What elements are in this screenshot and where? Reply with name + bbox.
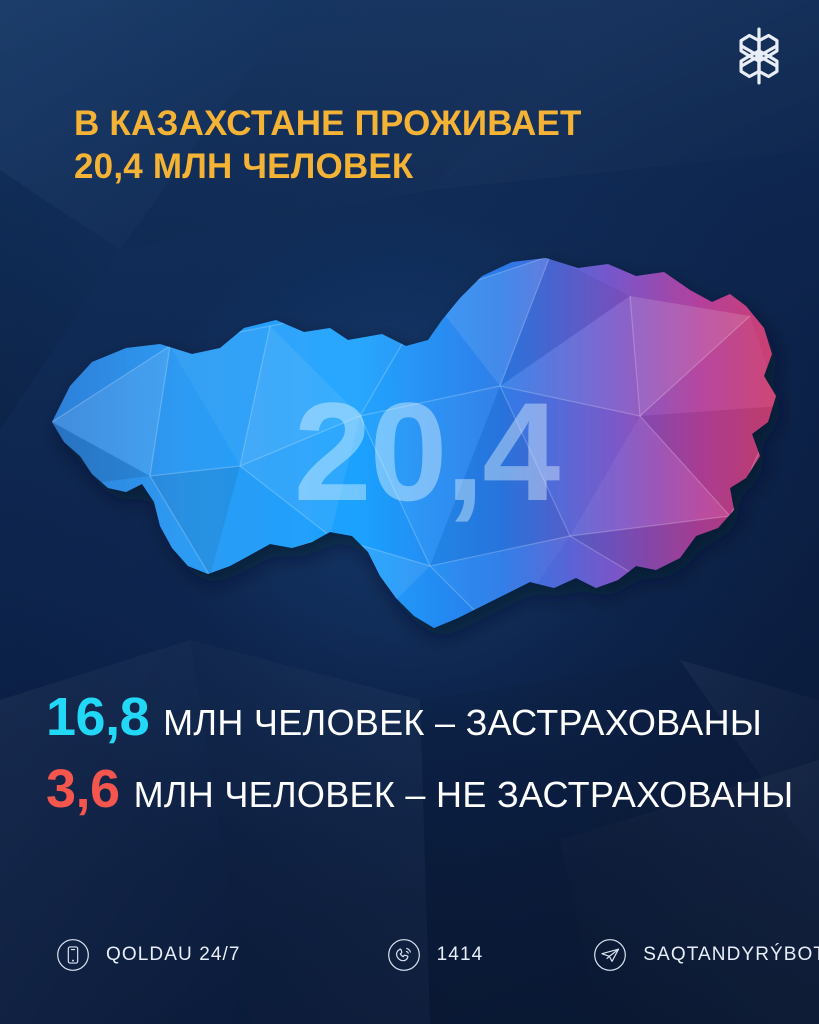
kazakhstan-map: 20,4	[30, 236, 790, 656]
footer-label-telegram: SAQTANDYRÝBOT	[643, 944, 819, 966]
stat-value-insured: 16,8	[46, 690, 149, 744]
smartphone-icon	[56, 938, 90, 972]
footer-item-qoldau[interactable]: QOLDAU 24/7	[56, 938, 241, 972]
footer-item-hotline[interactable]: 1414	[387, 938, 484, 972]
footer-label-hotline: 1414	[437, 944, 484, 966]
snowflake-hexagon-logo	[727, 24, 791, 88]
stat-row-insured: 16,8 МЛН ЧЕЛОВЕК – ЗАСТРАХОВАНЫ	[46, 690, 786, 744]
statistics-list: 16,8 МЛН ЧЕЛОВЕК – ЗАСТРАХОВАНЫ 3,6 МЛН …	[46, 690, 786, 834]
page-title: В КАЗАХСТАНЕ ПРОЖИВАЕТ 20,4 МЛН ЧЕЛОВЕК	[74, 103, 764, 188]
stat-value-uninsured: 3,6	[46, 762, 120, 816]
footer-item-telegram[interactable]: SAQTANDYRÝBOT	[593, 938, 819, 972]
stat-row-uninsured: 3,6 МЛН ЧЕЛОВЕК – НЕ ЗАСТРАХОВАНЫ	[46, 762, 786, 816]
telegram-plane-icon	[593, 938, 627, 972]
infographic-poster: В КАЗАХСТАНЕ ПРОЖИВАЕТ 20,4 МЛН ЧЕЛОВЕК	[0, 0, 819, 1024]
footer-label-qoldau: QOLDAU 24/7	[106, 944, 241, 966]
footer-contacts: QOLDAU 24/7 1414	[56, 938, 776, 972]
phone-call-icon	[387, 938, 421, 972]
stat-label-insured: МЛН ЧЕЛОВЕК – ЗАСТРАХОВАНЫ	[163, 705, 762, 741]
stat-label-uninsured: МЛН ЧЕЛОВЕК – НЕ ЗАСТРАХОВАНЫ	[134, 777, 794, 813]
